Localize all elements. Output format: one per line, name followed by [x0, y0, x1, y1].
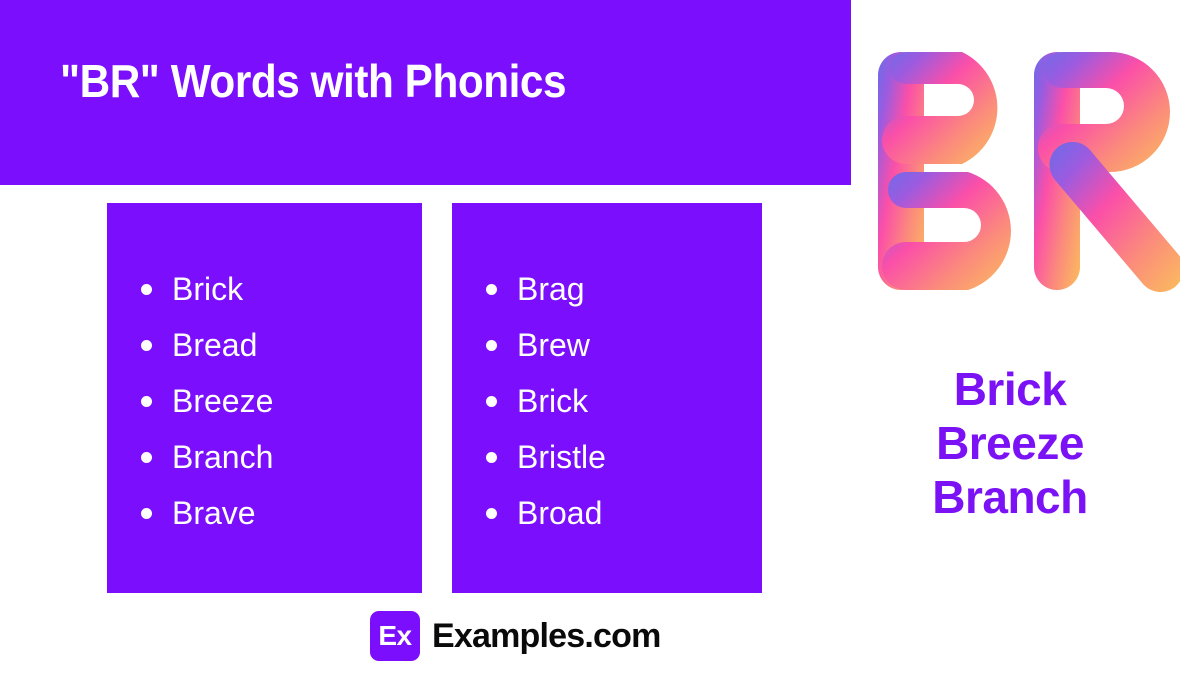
- bullet-icon: [486, 284, 497, 295]
- word-label: Branch: [172, 429, 273, 485]
- highlight-word: Breeze: [860, 416, 1160, 470]
- logo-letter-r: [1034, 52, 1180, 292]
- bullet-icon: [486, 396, 497, 407]
- bullet-icon: [486, 508, 497, 519]
- list-item: Brave: [141, 485, 273, 541]
- word-label: Brave: [172, 485, 256, 541]
- word-label: Brew: [517, 317, 590, 373]
- list-item: Bristle: [486, 429, 606, 485]
- footer-logo[interactable]: Ex Examples.com: [370, 611, 661, 661]
- header-band: "BR" Words with Phonics: [0, 0, 851, 185]
- highlight-word-list: Brick Breeze Branch: [860, 362, 1160, 524]
- page-title: "BR" Words with Phonics: [60, 56, 759, 107]
- word-label: Brick: [172, 261, 243, 317]
- bullet-icon: [141, 452, 152, 463]
- br-logo: [876, 46, 1180, 296]
- word-label: Bread: [172, 317, 257, 373]
- list-item: Bread: [141, 317, 273, 373]
- word-label: Broad: [517, 485, 602, 541]
- list-item: Brew: [486, 317, 606, 373]
- word-label: Brick: [517, 373, 588, 429]
- word-label: Brag: [517, 261, 585, 317]
- examples-badge-icon: Ex: [370, 611, 420, 661]
- word-list-right: Brag Brew Brick Bristle Broad: [486, 261, 606, 541]
- list-item: Branch: [141, 429, 273, 485]
- list-item: Breeze: [141, 373, 273, 429]
- footer-brand-name: Examples.com: [432, 619, 661, 653]
- logo-letter-b: [878, 52, 1011, 290]
- word-list-box-left: Brick Bread Breeze Branch Brave: [107, 203, 422, 593]
- bullet-icon: [486, 452, 497, 463]
- highlight-word: Branch: [860, 470, 1160, 524]
- word-label: Breeze: [172, 373, 273, 429]
- highlight-word: Brick: [860, 362, 1160, 416]
- bullet-icon: [141, 508, 152, 519]
- list-item: Brag: [486, 261, 606, 317]
- word-label: Bristle: [517, 429, 606, 485]
- list-item: Brick: [141, 261, 273, 317]
- list-item: Broad: [486, 485, 606, 541]
- bullet-icon: [486, 340, 497, 351]
- bullet-icon: [141, 284, 152, 295]
- word-list-box-right: Brag Brew Brick Bristle Broad: [452, 203, 762, 593]
- list-item: Brick: [486, 373, 606, 429]
- word-list-left: Brick Bread Breeze Branch Brave: [141, 261, 273, 541]
- bullet-icon: [141, 340, 152, 351]
- bullet-icon: [141, 396, 152, 407]
